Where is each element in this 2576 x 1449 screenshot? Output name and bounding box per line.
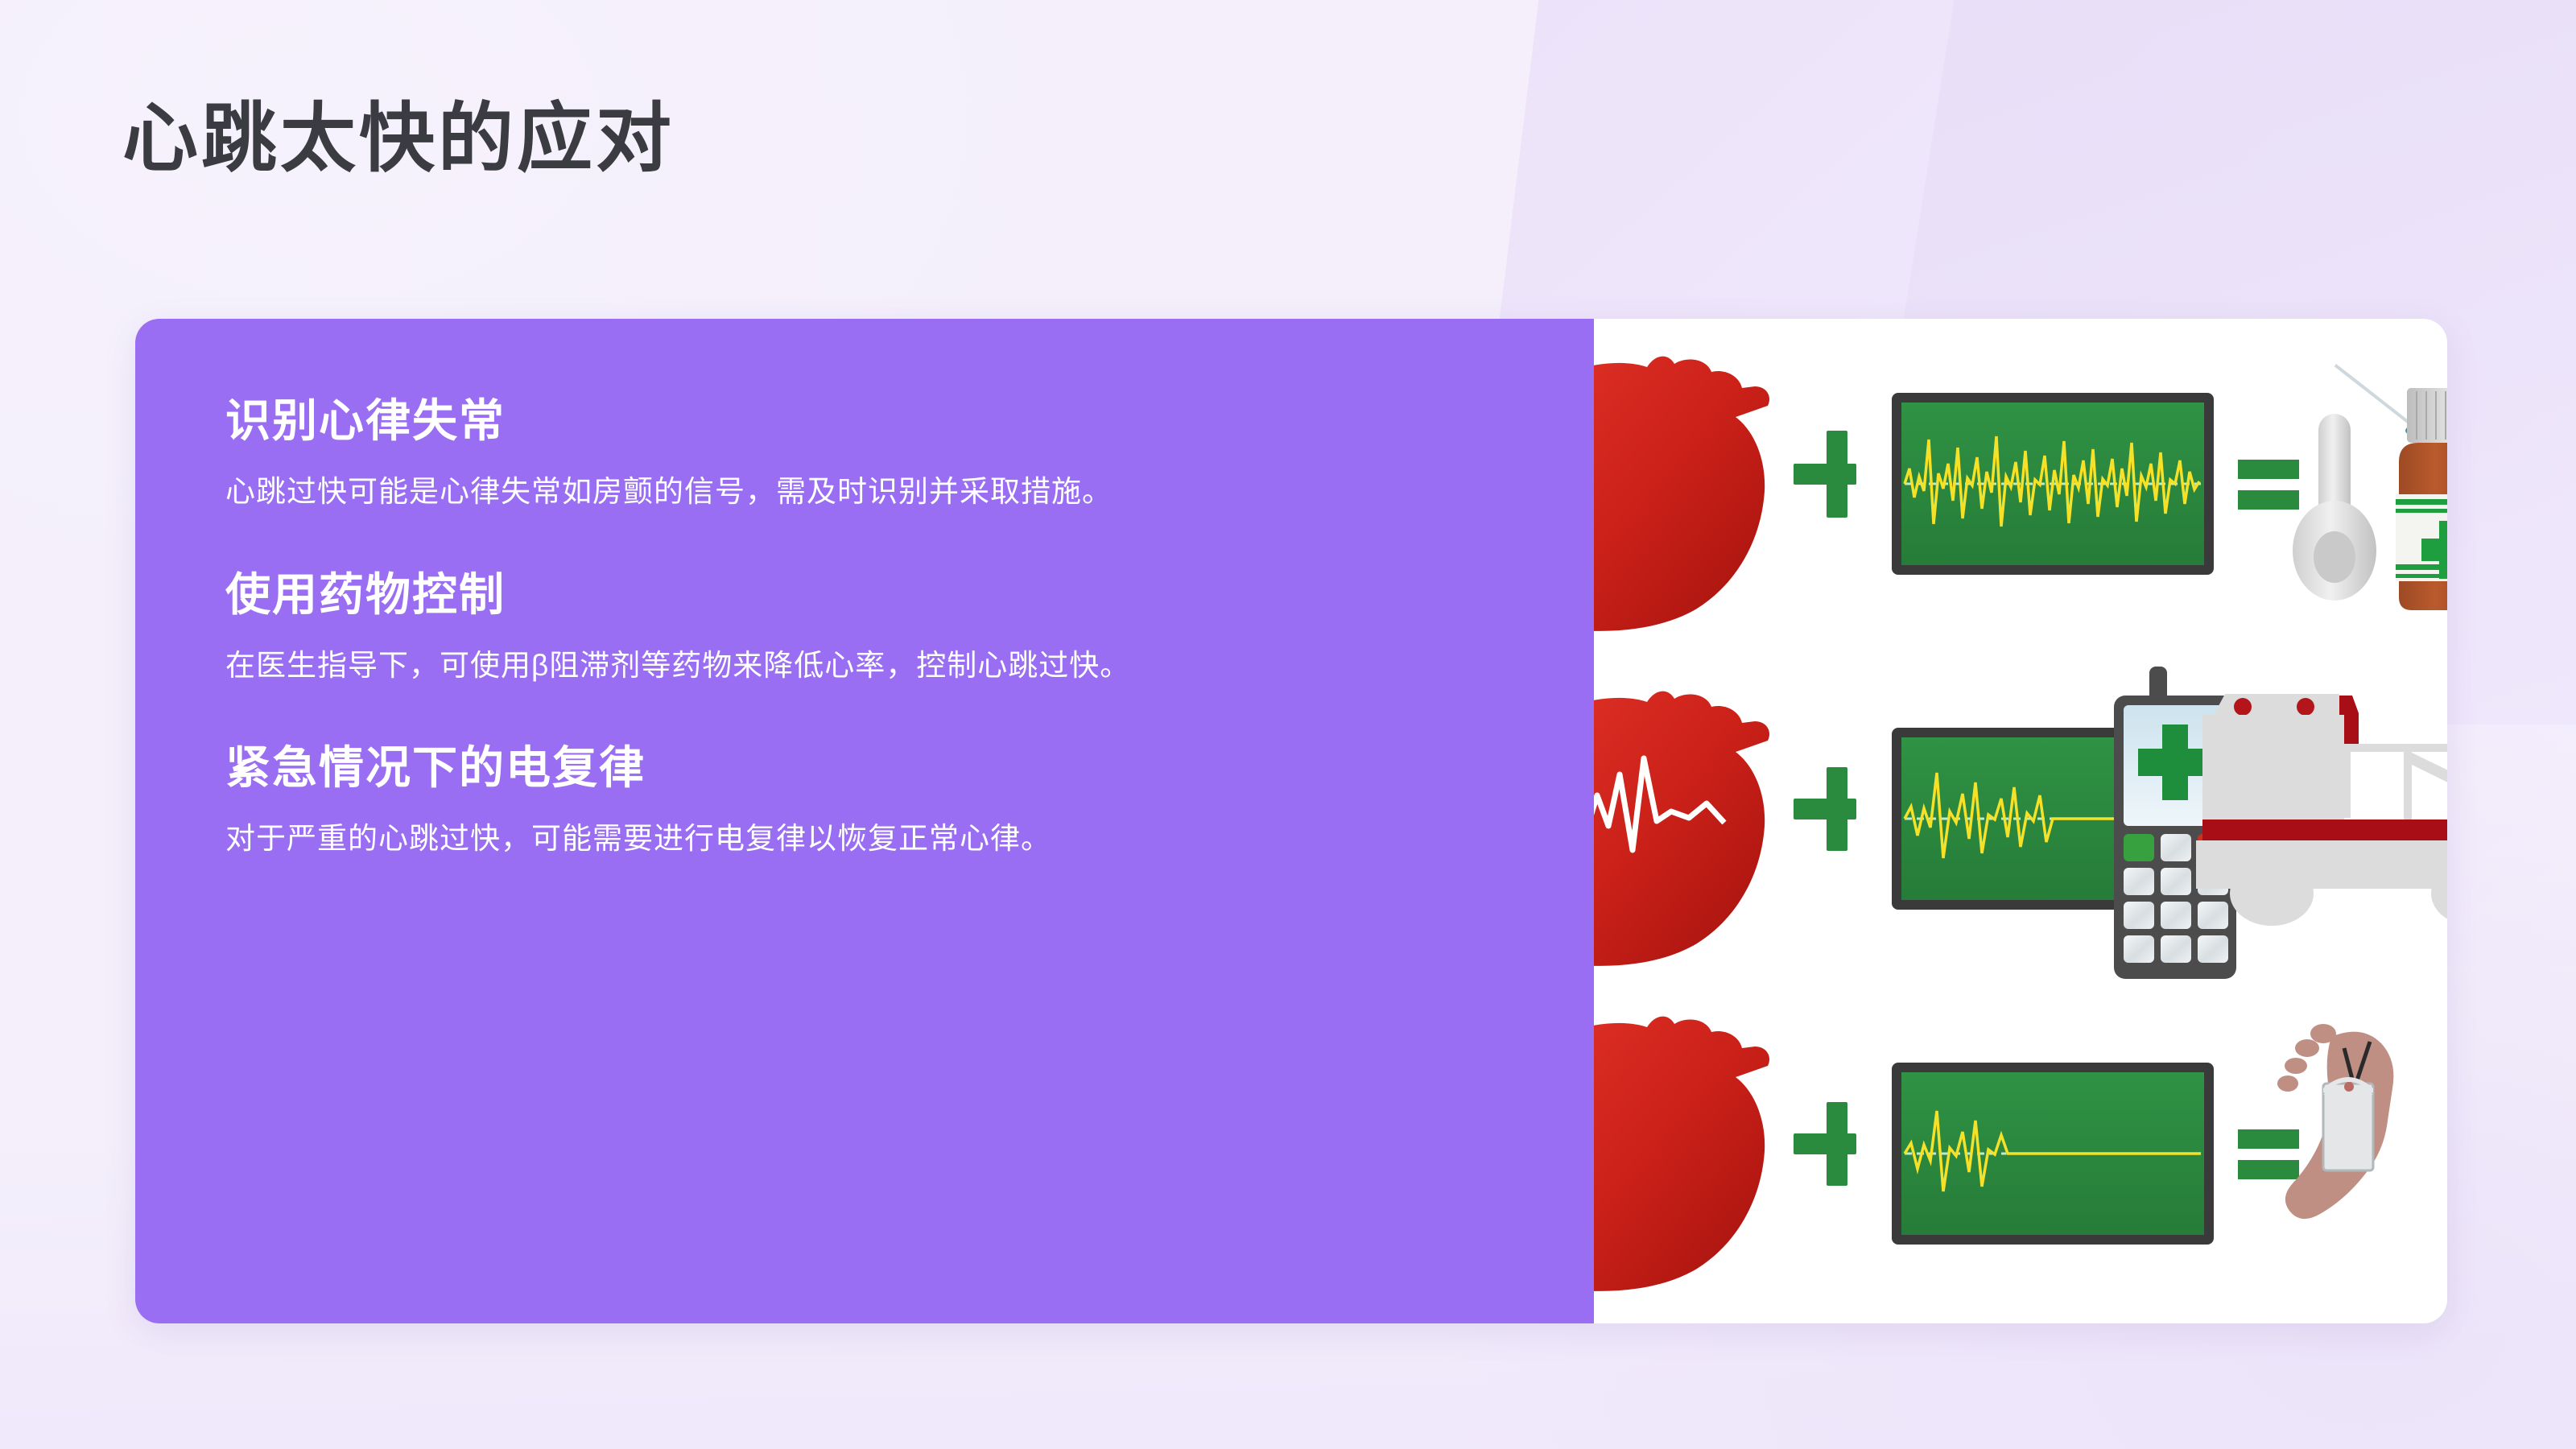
feature-body-3: 对于严重的心跳过快，可能需要进行电复律以恢复正常心律。 [225,817,1546,861]
page-title: 心跳太快的应对 [122,97,675,180]
medicine-bottle-icon [2396,388,2447,610]
feature-heading-1: 识别心律失常 [225,393,1546,449]
feature-block-2: 使用药物控制 在医生指导下，可使用β阻滞剂等药物来降低心率，控制心跳过快。 [225,567,1546,687]
feature-body-2: 在医生指导下，可使用β阻滞剂等药物来降低心率，控制心跳过快。 [225,644,1546,687]
ecg-monitor-rapid-icon [1892,393,2214,575]
equals-icon [2238,460,2299,510]
ambulance-icon [2196,694,2447,926]
feature-block-3: 紧急情况下的电复律 对于严重的心跳过快，可能需要进行电复律以恢复正常心律。 [225,740,1546,861]
medicine-bottle-syringe-icon [2293,353,2447,610]
illustration-row-1 [1594,353,2447,631]
feature-block-1: 识别心律失常 心跳过快可能是心律失常如房颤的信号，需及时识别并采取措施。 [225,393,1546,514]
plus-icon [1794,431,1856,518]
feature-body-1: 心跳过快可能是心律失常如房颤的信号，需及时识别并采取措施。 [225,470,1546,514]
feature-text-panel: 识别心律失常 心跳过快可能是心律失常如房颤的信号，需及时识别并采取措施。 使用药… [135,319,1594,1323]
plus-icon [1794,1102,1856,1186]
plus-icon [1794,767,1856,851]
content-card: 识别心律失常 心跳过快可能是心律失常如房颤的信号，需及时识别并采取措施。 使用药… [135,319,2447,1323]
spoon-icon [2293,414,2376,601]
equals-icon [2238,1129,2299,1179]
red-heart-icon [1594,357,1769,631]
red-heart-with-ecg-icon [1594,691,1769,966]
illustration-row-2 [1594,667,2447,979]
feature-heading-3: 紧急情况下的电复律 [225,740,1546,796]
toe-tag-feet-icon [2277,1024,2447,1219]
illustration-row-3 [1594,1017,2447,1291]
feature-heading-2: 使用药物控制 [225,567,1546,623]
red-heart-icon [1594,1017,1769,1291]
illustration-panel [1594,319,2447,1323]
medical-equation-illustration [1594,319,2447,1323]
ecg-monitor-flatline-icon [1892,1063,2214,1245]
